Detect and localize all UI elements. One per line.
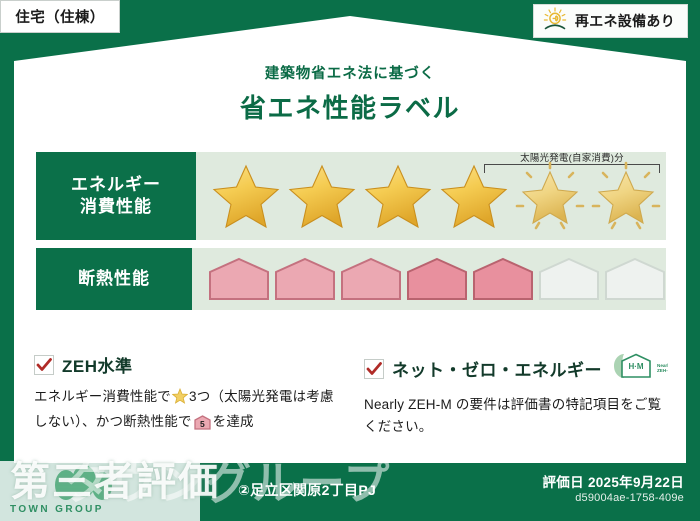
project-name: ②足立区関原2丁目PJ xyxy=(238,480,376,500)
zeh-heading: ZEH水準 xyxy=(62,352,133,377)
zeh-desc-pre: エネルギー消費性能で xyxy=(34,389,171,404)
check-icon xyxy=(34,355,54,375)
title-main: 省エネ性能ラベル xyxy=(0,88,700,125)
insulation-badges-area: 1 2 3 xyxy=(192,248,666,310)
net-zero-energy-block: ネット・ゼロ・エネルギー H·M Nearly ZEH-M Nearly ZEH… xyxy=(364,352,672,438)
insulation-performance-label: 断熱性能 xyxy=(36,248,192,310)
insulation-badge-inactive: 7 xyxy=(604,257,666,301)
svg-text:H·M: H·M xyxy=(628,362,643,371)
check-icon xyxy=(364,359,384,379)
renewable-energy-label: 再エネ設備あり xyxy=(575,11,675,31)
evaluation-date-label: 評価日 xyxy=(542,475,583,490)
zeh-heading-row: ZEH水準 xyxy=(34,352,342,377)
star-filled xyxy=(210,161,282,231)
insulation-badge: 1 xyxy=(208,257,270,301)
rating-rows: エネルギー 消費性能 xyxy=(36,152,666,310)
info-section: ZEH水準 エネルギー消費性能で3つ（太陽光発電は考慮しない）、かつ断熱性能で5… xyxy=(34,352,672,438)
insulation-badge-inactive: 6 xyxy=(538,257,600,301)
energy-stars-area: 太陽光発電(自家消費)分 xyxy=(196,152,666,240)
energy-performance-row: エネルギー 消費性能 xyxy=(36,152,666,240)
star-icon xyxy=(172,388,188,411)
insulation-badge: 4 xyxy=(406,257,468,301)
insulation-label-text: 断熱性能 xyxy=(78,268,150,290)
star-filled xyxy=(286,161,358,231)
renewable-energy-badge: 再エネ設備あり xyxy=(533,4,688,38)
energy-label-line1: エネルギー xyxy=(71,174,161,196)
evaluation-date-value: 2025年9月22日 xyxy=(588,475,684,490)
nze-heading-row: ネット・ゼロ・エネルギー H·M Nearly ZEH-M xyxy=(364,352,672,385)
insulation-performance-row: 断熱性能 1 2 xyxy=(36,248,666,310)
energy-label-line2: 消費性能 xyxy=(80,196,152,218)
label-footer: ②足立区関原2丁目PJ 評価日 2025年9月22日 d59004ae-1758… xyxy=(0,463,700,521)
house-shape-icon xyxy=(208,257,270,301)
zeh-desc-post: を達成 xyxy=(213,414,254,429)
energy-performance-label: エネルギー 消費性能 xyxy=(36,152,196,240)
sun-icon xyxy=(542,7,568,36)
star-solar xyxy=(590,161,662,231)
evaluation-date: 評価日 2025年9月22日 xyxy=(542,471,684,491)
building-type-tag: 住宅（住棟） xyxy=(0,0,120,33)
building-type-label: 住宅（住棟） xyxy=(15,6,104,27)
star-filled xyxy=(362,161,434,231)
insulation-badge: 2 xyxy=(274,257,336,301)
nze-description: Nearly ZEH-M の要件は評価書の特記項目をご覧ください。 xyxy=(364,394,672,438)
svg-text:5: 5 xyxy=(200,419,205,429)
star-solar xyxy=(514,161,586,231)
insulation-level-icon: 5 xyxy=(194,415,211,437)
house-shape-icon xyxy=(604,257,666,301)
house-shape-icon xyxy=(472,257,534,301)
house-shape-icon xyxy=(406,257,468,301)
svg-text:ZEH-M: ZEH-M xyxy=(657,368,668,373)
house-shape-icon xyxy=(340,257,402,301)
zeh-description: エネルギー消費性能で3つ（太陽光発電は考慮しない）、かつ断熱性能で5を達成 xyxy=(34,386,342,437)
title-subtitle: 建築物省エネ法に基づく xyxy=(0,62,700,83)
house-shape-icon xyxy=(274,257,336,301)
nze-heading: ネット・ゼロ・エネルギー xyxy=(392,356,602,381)
house-shape-icon xyxy=(538,257,600,301)
document-id: d59004ae-1758-409e xyxy=(575,492,684,504)
energy-performance-label: 住宅（住棟） 再エネ設備あり 建築物省エネ法に基づく xyxy=(0,0,700,521)
insulation-badge: 5 xyxy=(472,257,534,301)
nearly-zeh-m-logo: H·M Nearly ZEH-M xyxy=(612,352,668,385)
insulation-badge: 3 xyxy=(340,257,402,301)
label-title-block: 建築物省エネ法に基づく 省エネ性能ラベル xyxy=(0,62,700,125)
zeh-standard-block: ZEH水準 エネルギー消費性能で3つ（太陽光発電は考慮しない）、かつ断熱性能で5… xyxy=(34,352,342,438)
